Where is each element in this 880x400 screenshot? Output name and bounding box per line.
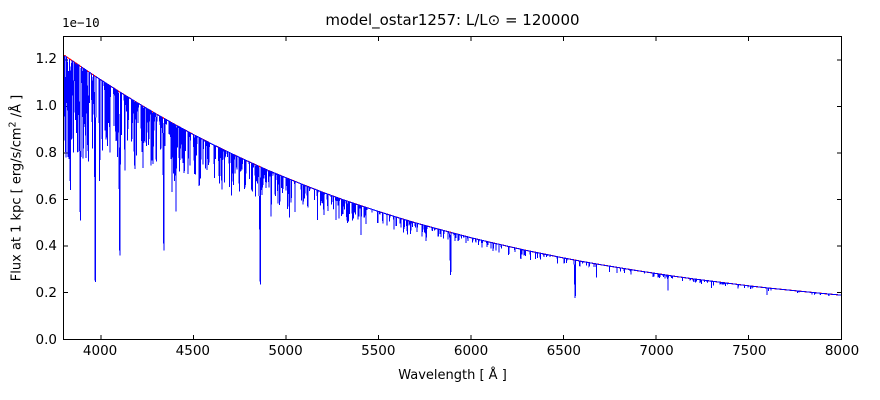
x-tick-label: 7500 bbox=[732, 343, 766, 359]
x-tick-label: 4000 bbox=[83, 343, 117, 359]
plot-axes bbox=[63, 36, 842, 340]
y-axis-offset-text: 1e−10 bbox=[62, 15, 100, 30]
spectrum-figure: model_ostar1257: L/L⊙ = 120000 1e−10 400… bbox=[0, 0, 880, 400]
x-tick-label: 6500 bbox=[547, 343, 581, 359]
spectrum-curve bbox=[64, 56, 841, 298]
plot-title: model_ostar1257: L/L⊙ = 120000 bbox=[63, 11, 842, 29]
x-tick-label: 6000 bbox=[454, 343, 488, 359]
y-tick-label: 1.0 bbox=[36, 98, 57, 114]
y-axis-label-suffix: /Å ] bbox=[10, 95, 25, 122]
plot-canvas bbox=[64, 37, 841, 339]
y-axis-label: Flux at 1 kpc [ erg/s/cm2 /Å ] bbox=[7, 95, 24, 281]
x-tick-label: 7000 bbox=[639, 343, 673, 359]
x-tick-label: 8000 bbox=[825, 343, 859, 359]
x-tick-label: 5500 bbox=[361, 343, 395, 359]
y-tick-label: 1.2 bbox=[36, 51, 57, 67]
y-axis-label-exponent: 2 bbox=[7, 121, 18, 127]
x-tick-label: 4500 bbox=[176, 343, 210, 359]
y-tick-label: 0.4 bbox=[36, 238, 57, 254]
continuum-curve bbox=[64, 55, 841, 295]
y-tick-label: 0.8 bbox=[36, 145, 57, 161]
tick-marks bbox=[64, 37, 841, 339]
y-tick-label: 0.6 bbox=[36, 192, 57, 208]
x-axis-label: Wavelength [ Å ] bbox=[63, 368, 842, 383]
y-tick-label: 0.2 bbox=[36, 285, 57, 301]
y-tick-label: 0.0 bbox=[36, 332, 57, 348]
y-axis-label-prefix: Flux at 1 kpc [ erg/s/cm bbox=[10, 127, 25, 281]
x-tick-label: 5000 bbox=[268, 343, 302, 359]
